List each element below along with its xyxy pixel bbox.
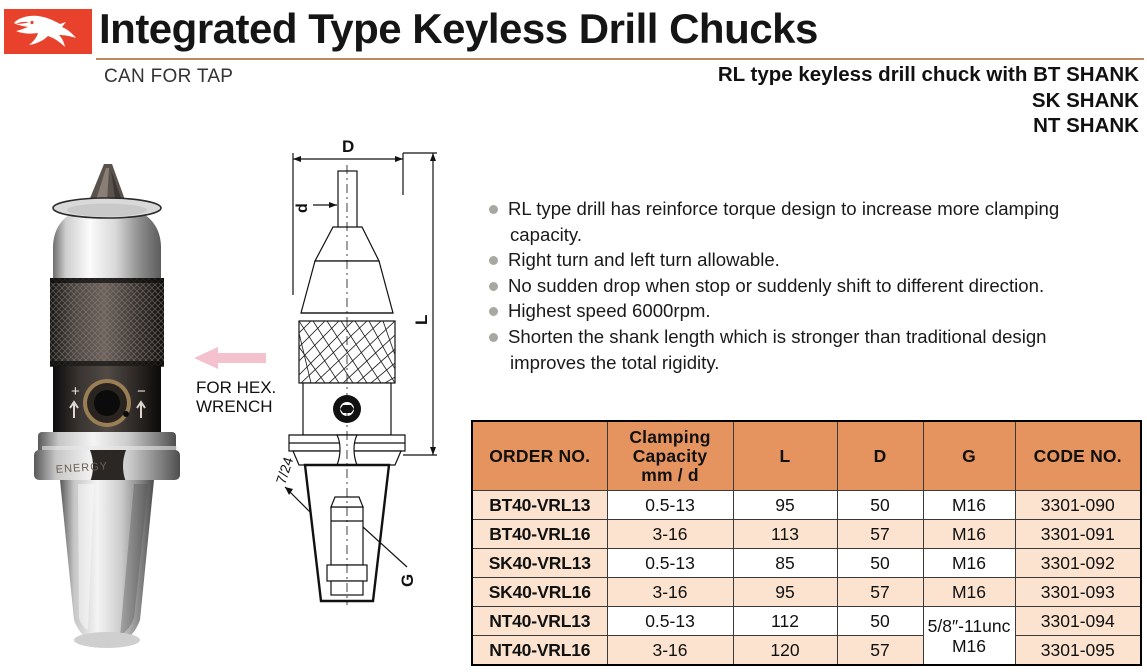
cell-d: 50 bbox=[837, 607, 923, 636]
table-row: BT40-VRL13 0.5-13 95 50 M16 3301-090 bbox=[472, 491, 1141, 520]
g-line-1: 5/8″-11unc bbox=[924, 616, 1015, 636]
clamping-l3: mm / d bbox=[608, 466, 733, 485]
hex-wrench-callout: FOR HEX. WRENCH bbox=[196, 378, 276, 416]
g-line-2: M16 bbox=[924, 636, 1015, 656]
table-row: NT40-VRL13 0.5-13 112 50 5/8″-11unc M16 … bbox=[472, 607, 1141, 636]
cell-d: 50 bbox=[837, 491, 923, 520]
clamping-l2: Capacity bbox=[608, 447, 733, 466]
bullet-dot-icon bbox=[489, 282, 498, 291]
cell-clamping: 0.5-13 bbox=[607, 491, 733, 520]
cell-code-no: 3301-091 bbox=[1015, 520, 1141, 549]
shank-line-sk: SK SHANK bbox=[619, 88, 1139, 114]
page-subtitle: CAN FOR TAP bbox=[104, 66, 233, 88]
cell-l: 95 bbox=[733, 491, 837, 520]
bullet-dot-icon bbox=[489, 333, 498, 342]
table-row: BT40-VRL16 3-16 113 57 M16 3301-091 bbox=[472, 520, 1141, 549]
feature-text: RL type drill has reinforce torque desig… bbox=[508, 198, 1059, 219]
cell-d: 57 bbox=[837, 578, 923, 607]
cell-code-no: 3301-092 bbox=[1015, 549, 1141, 578]
cell-l: 95 bbox=[733, 578, 837, 607]
list-item: RL type drill has reinforce torque desig… bbox=[487, 196, 1139, 247]
table-row: SK40-VRL13 0.5-13 85 50 M16 3301-092 bbox=[472, 549, 1141, 578]
catalog-page: Integrated Type Keyless Drill Chucks CAN… bbox=[0, 0, 1147, 672]
list-item: Highest speed 6000rpm. bbox=[487, 298, 1139, 324]
col-header-d: D bbox=[837, 421, 923, 491]
cell-g-merged: 5/8″-11unc M16 bbox=[923, 607, 1015, 666]
cell-g: M16 bbox=[923, 578, 1015, 607]
cell-order-no: BT40-VRL13 bbox=[472, 491, 607, 520]
spec-table-wrapper: ORDER NO. Clamping Capacity mm / d L D G… bbox=[471, 420, 1140, 666]
product-photo: + − ENERGY bbox=[8, 150, 223, 670]
list-item: Right turn and left turn allowable. bbox=[487, 247, 1139, 273]
feature-text: No sudden drop when stop or suddenly shi… bbox=[508, 275, 1044, 296]
col-header-l: L bbox=[733, 421, 837, 491]
cell-d: 57 bbox=[837, 636, 923, 666]
cell-l: 120 bbox=[733, 636, 837, 666]
left-arrow-icon bbox=[192, 345, 268, 371]
cell-clamping: 0.5-13 bbox=[607, 607, 733, 636]
cell-l: 85 bbox=[733, 549, 837, 578]
feature-text-cont: capacity. bbox=[508, 222, 1139, 248]
cell-l: 112 bbox=[733, 607, 837, 636]
cell-order-no: SK40-VRL16 bbox=[472, 578, 607, 607]
col-header-g: G bbox=[923, 421, 1015, 491]
title-divider bbox=[96, 58, 1144, 60]
callout-line-2: WRENCH bbox=[196, 397, 276, 416]
col-header-clamping-capacity: Clamping Capacity mm / d bbox=[607, 421, 733, 491]
spec-table: ORDER NO. Clamping Capacity mm / d L D G… bbox=[471, 420, 1142, 666]
cell-g: M16 bbox=[923, 549, 1015, 578]
cell-g: M16 bbox=[923, 520, 1015, 549]
svg-text:+: + bbox=[71, 383, 80, 400]
cell-code-no: 3301-093 bbox=[1015, 578, 1141, 607]
bullet-dot-icon bbox=[489, 307, 498, 316]
list-item: Shorten the shank length which is strong… bbox=[487, 324, 1139, 375]
shank-type-list: RL type keyless drill chuck with BT SHAN… bbox=[619, 62, 1139, 139]
feature-text: Shorten the shank length which is strong… bbox=[508, 326, 1047, 347]
cell-code-no: 3301-090 bbox=[1015, 491, 1141, 520]
cell-code-no: 3301-095 bbox=[1015, 636, 1141, 666]
callout-line-1: FOR HEX. bbox=[196, 378, 276, 397]
bullet-dot-icon bbox=[489, 205, 498, 214]
cell-clamping: 3-16 bbox=[607, 578, 733, 607]
cell-order-no: BT40-VRL16 bbox=[472, 520, 607, 549]
list-item: No sudden drop when stop or suddenly shi… bbox=[487, 273, 1139, 299]
svg-text:−: − bbox=[137, 383, 146, 400]
cell-l: 113 bbox=[733, 520, 837, 549]
cell-d: 57 bbox=[837, 520, 923, 549]
cell-order-no: NT40-VRL13 bbox=[472, 607, 607, 636]
taper-label: 7/24 bbox=[273, 455, 297, 486]
feature-list: RL type drill has reinforce torque desig… bbox=[487, 196, 1139, 375]
dim-label-G: G bbox=[398, 574, 417, 587]
dim-label-d: d bbox=[294, 203, 311, 213]
cell-g: M16 bbox=[923, 491, 1015, 520]
table-row: NT40-VRL16 3-16 120 57 3301-095 bbox=[472, 636, 1141, 666]
col-header-order-no: ORDER NO. bbox=[472, 421, 607, 491]
cell-code-no: 3301-094 bbox=[1015, 607, 1141, 636]
clamping-l1: Clamping bbox=[608, 428, 733, 447]
cell-d: 50 bbox=[837, 549, 923, 578]
cell-order-no: NT40-VRL16 bbox=[472, 636, 607, 666]
cell-order-no: SK40-VRL13 bbox=[472, 549, 607, 578]
table-header-row: ORDER NO. Clamping Capacity mm / d L D G… bbox=[472, 421, 1141, 491]
feature-text: Right turn and left turn allowable. bbox=[508, 249, 780, 270]
table-row: SK40-VRL16 3-16 95 57 M16 3301-093 bbox=[472, 578, 1141, 607]
shank-line-bt: RL type keyless drill chuck with BT SHAN… bbox=[619, 62, 1139, 88]
feature-text-cont: improves the total rigidity. bbox=[508, 350, 1139, 376]
cell-clamping: 3-16 bbox=[607, 636, 733, 666]
cell-clamping: 0.5-13 bbox=[607, 549, 733, 578]
col-header-code-no: CODE NO. bbox=[1015, 421, 1141, 491]
dim-label-D: D bbox=[342, 137, 354, 156]
shank-line-nt: NT SHANK bbox=[619, 113, 1139, 139]
dim-label-L: L bbox=[412, 315, 431, 325]
feature-text: Highest speed 6000rpm. bbox=[508, 300, 711, 321]
eagle-head-logo-icon bbox=[4, 9, 92, 54]
bullet-dot-icon bbox=[489, 256, 498, 265]
page-title: Integrated Type Keyless Drill Chucks bbox=[99, 4, 818, 54]
cell-clamping: 3-16 bbox=[607, 520, 733, 549]
technical-drawing: D d L G 7/24 bbox=[255, 135, 465, 672]
